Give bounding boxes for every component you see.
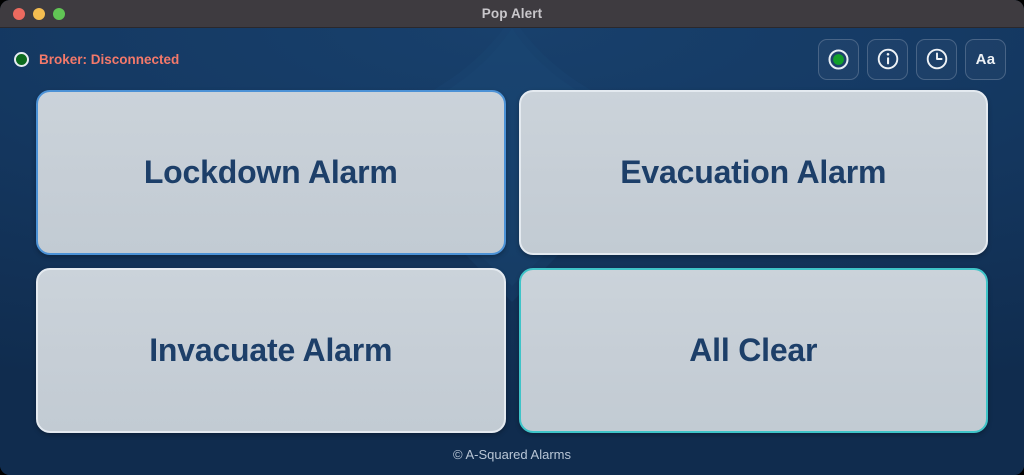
copyright-text: © A-Squared Alarms xyxy=(453,447,571,462)
alarm-button-grid: Lockdown Alarm Evacuation Alarm Invacuat… xyxy=(0,90,1024,433)
window-controls xyxy=(0,8,65,20)
history-button[interactable] xyxy=(916,39,957,80)
invacuate-alarm-label: Invacuate Alarm xyxy=(149,333,392,368)
evacuation-alarm-label: Evacuation Alarm xyxy=(620,155,886,190)
app-window: Pop Alert Broker: Disconnected xyxy=(0,0,1024,475)
filled-circle-icon xyxy=(827,48,850,71)
title-bar: Pop Alert xyxy=(0,0,1024,28)
header-bar: Broker: Disconnected xyxy=(0,28,1024,90)
text-size-button[interactable]: Aa xyxy=(965,39,1006,80)
status-indicator-button[interactable] xyxy=(818,39,859,80)
lockdown-alarm-button[interactable]: Lockdown Alarm xyxy=(36,90,506,255)
all-clear-label: All Clear xyxy=(689,333,817,368)
app-body: Broker: Disconnected xyxy=(0,28,1024,475)
info-circle-icon xyxy=(876,47,900,71)
evacuation-alarm-button[interactable]: Evacuation Alarm xyxy=(519,90,989,255)
minimize-button[interactable] xyxy=(33,8,45,20)
aa-text-icon: Aa xyxy=(976,51,996,68)
window-title: Pop Alert xyxy=(0,0,1024,27)
info-button[interactable] xyxy=(867,39,908,80)
maximize-button[interactable] xyxy=(53,8,65,20)
broker-status: Broker: Disconnected xyxy=(14,52,179,67)
lockdown-alarm-label: Lockdown Alarm xyxy=(144,155,398,190)
broker-status-label: Broker: Disconnected xyxy=(39,52,179,67)
close-button[interactable] xyxy=(13,8,25,20)
clock-icon xyxy=(925,47,949,71)
footer: © A-Squared Alarms xyxy=(0,433,1024,475)
invacuate-alarm-button[interactable]: Invacuate Alarm xyxy=(36,268,506,433)
header-icon-bar: Aa xyxy=(818,39,1006,80)
broker-status-dot xyxy=(14,52,29,67)
all-clear-button[interactable]: All Clear xyxy=(519,268,989,433)
